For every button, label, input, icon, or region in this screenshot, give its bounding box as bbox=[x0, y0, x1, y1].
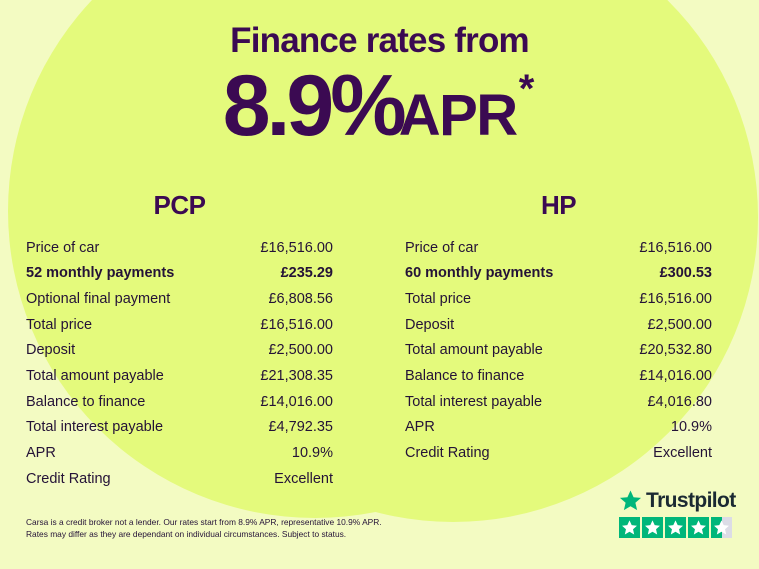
star-icon-3 bbox=[665, 517, 686, 538]
trustpilot-name: Trustpilot bbox=[646, 490, 736, 511]
poster-header: Finance rates from 8.9%APR* bbox=[0, 0, 759, 149]
row-value: £16,516.00 bbox=[639, 241, 712, 256]
row-value: £300.53 bbox=[660, 266, 712, 281]
row-value: £2,500.00 bbox=[647, 318, 712, 333]
rate-value: 8.9% bbox=[223, 58, 403, 154]
row-label: Total price bbox=[26, 318, 92, 333]
row-label: Deposit bbox=[405, 318, 454, 333]
trustpilot-wordmark: Trustpilot bbox=[619, 487, 737, 513]
table-row: Total amount payable£20,532.80 bbox=[405, 338, 712, 364]
plans-container: PCP Price of car£16,516.00 52 monthly pa… bbox=[0, 190, 759, 492]
row-label: APR bbox=[26, 446, 56, 461]
disclaimer-line-1: Carsa is a credit broker not a lender. O… bbox=[26, 516, 446, 528]
row-label: Price of car bbox=[405, 241, 478, 256]
row-value: Excellent bbox=[653, 446, 712, 461]
row-label: Optional final payment bbox=[26, 292, 170, 307]
table-row: Balance to finance£14,016.00 bbox=[405, 363, 712, 389]
table-row: Total price£16,516.00 bbox=[405, 286, 712, 312]
row-label: 52 monthly payments bbox=[26, 266, 174, 281]
plan-rows-pcp: Price of car£16,516.00 52 monthly paymen… bbox=[26, 235, 333, 492]
finance-rates-poster: Finance rates from 8.9%APR* PCP Price of… bbox=[0, 0, 759, 569]
row-value: £16,516.00 bbox=[260, 241, 333, 256]
table-row: Total interest payable£4,792.35 bbox=[26, 415, 333, 441]
table-row: Price of car£16,516.00 bbox=[26, 235, 333, 261]
table-row: Balance to finance£14,016.00 bbox=[26, 389, 333, 415]
plan-title-pcp: PCP bbox=[26, 190, 333, 221]
plan-title-hp: HP bbox=[405, 190, 712, 221]
row-value: Excellent bbox=[274, 472, 333, 487]
table-row: Total amount payable£21,308.35 bbox=[26, 363, 333, 389]
trustpilot-star-icon bbox=[619, 489, 642, 512]
table-row: Credit RatingExcellent bbox=[26, 466, 333, 492]
row-label: Total interest payable bbox=[26, 420, 163, 435]
table-row: Total interest payable£4,016.80 bbox=[405, 389, 712, 415]
table-row: 60 monthly payments£300.53 bbox=[405, 261, 712, 287]
table-row: Optional final payment£6,808.56 bbox=[26, 286, 333, 312]
row-label: 60 monthly payments bbox=[405, 266, 553, 281]
row-label: Deposit bbox=[26, 343, 75, 358]
row-value: £16,516.00 bbox=[260, 318, 333, 333]
row-value: £235.29 bbox=[281, 266, 333, 281]
row-value: 10.9% bbox=[671, 420, 712, 435]
table-row: Total price£16,516.00 bbox=[26, 312, 333, 338]
headline: Finance rates from bbox=[0, 0, 759, 61]
plan-rows-hp: Price of car£16,516.00 60 monthly paymen… bbox=[405, 235, 712, 466]
rate-line: 8.9%APR* bbox=[0, 61, 759, 149]
table-row: Credit RatingExcellent bbox=[405, 441, 712, 467]
table-row: Deposit£2,500.00 bbox=[26, 338, 333, 364]
table-row: Price of car£16,516.00 bbox=[405, 235, 712, 261]
table-row: 52 monthly payments£235.29 bbox=[26, 261, 333, 287]
star-icon-2 bbox=[642, 517, 663, 538]
star-icon-5-half bbox=[711, 517, 732, 538]
table-row: Deposit£2,500.00 bbox=[405, 312, 712, 338]
row-label: APR bbox=[405, 420, 435, 435]
row-value: £14,016.00 bbox=[260, 395, 333, 410]
row-label: Balance to finance bbox=[26, 395, 145, 410]
star-icon-4 bbox=[688, 517, 709, 538]
footnote-asterisk: * bbox=[519, 67, 535, 111]
rate-unit: APR bbox=[399, 83, 517, 148]
disclaimer-line-2: Rates may differ as they are dependant o… bbox=[26, 528, 446, 540]
row-label: Total amount payable bbox=[405, 343, 543, 358]
row-value: £21,308.35 bbox=[260, 369, 333, 384]
row-value: £4,016.80 bbox=[647, 395, 712, 410]
row-value: £2,500.00 bbox=[268, 343, 333, 358]
trustpilot-rating: Trustpilot bbox=[619, 487, 737, 538]
row-value: 10.9% bbox=[292, 446, 333, 461]
row-label: Balance to finance bbox=[405, 369, 524, 384]
row-label: Total amount payable bbox=[26, 369, 164, 384]
star-icon-1 bbox=[619, 517, 640, 538]
table-row: APR10.9% bbox=[26, 441, 333, 467]
row-value: £4,792.35 bbox=[268, 420, 333, 435]
row-label: Price of car bbox=[26, 241, 99, 256]
row-label: Credit Rating bbox=[405, 446, 490, 461]
row-value: £20,532.80 bbox=[639, 343, 712, 358]
row-value: £14,016.00 bbox=[639, 369, 712, 384]
plan-column-hp: HP Price of car£16,516.00 60 monthly pay… bbox=[379, 190, 758, 492]
row-value: £16,516.00 bbox=[639, 292, 712, 307]
disclaimer: Carsa is a credit broker not a lender. O… bbox=[26, 516, 446, 540]
plan-column-pcp: PCP Price of car£16,516.00 52 monthly pa… bbox=[0, 190, 379, 492]
table-row: APR10.9% bbox=[405, 415, 712, 441]
row-label: Total price bbox=[405, 292, 471, 307]
row-label: Total interest payable bbox=[405, 395, 542, 410]
row-value: £6,808.56 bbox=[268, 292, 333, 307]
trustpilot-star-row bbox=[619, 517, 737, 538]
row-label: Credit Rating bbox=[26, 472, 111, 487]
